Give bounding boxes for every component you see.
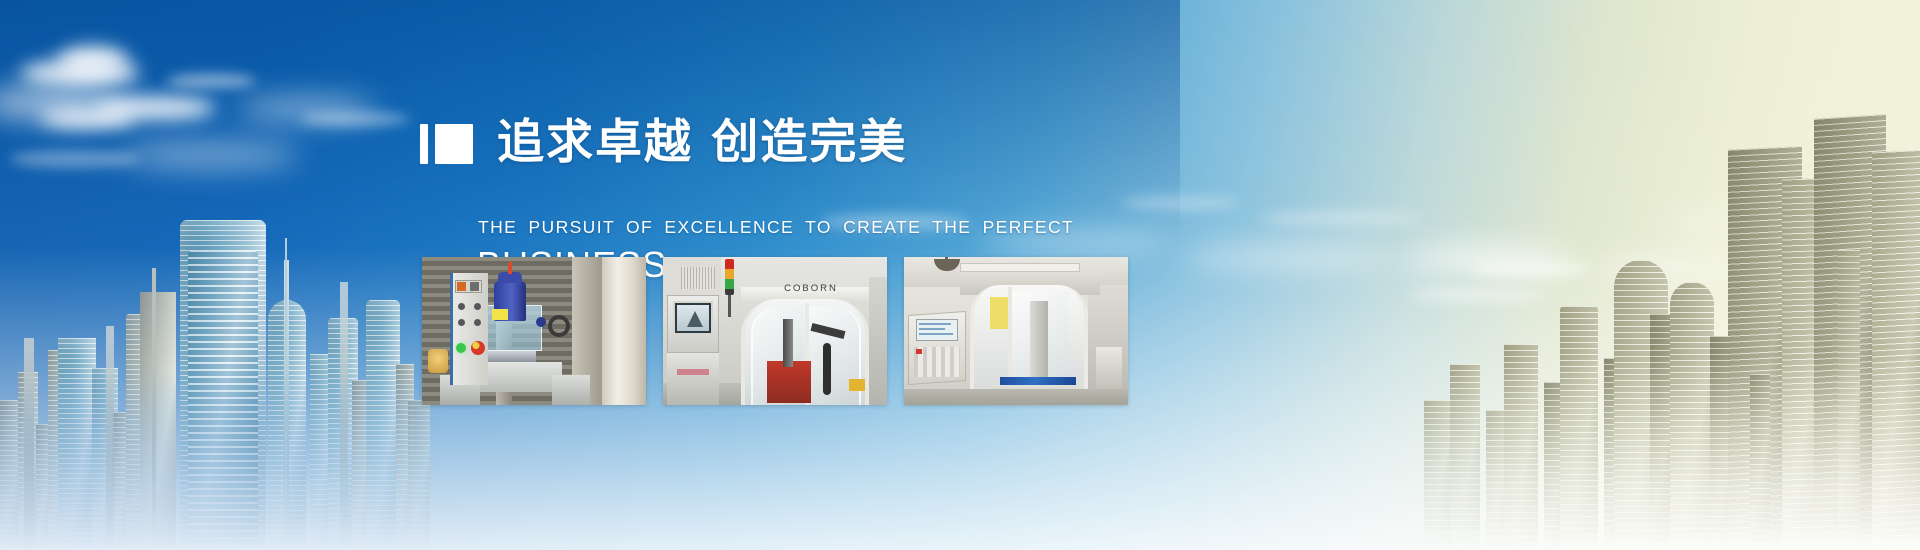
lifting-hook-icon — [508, 262, 512, 274]
photo-operator-panel-machine[interactable] — [904, 257, 1128, 405]
panel-indicator-grey-icon — [470, 282, 479, 291]
panel-knob-4-icon — [474, 319, 481, 326]
screen-line-2 — [919, 328, 945, 330]
logo-mark — [420, 124, 473, 164]
right-cabinet-panel — [869, 277, 887, 405]
power-on-light-icon — [456, 343, 466, 353]
headline-chinese: 追求卓越 创造完美 — [497, 119, 907, 166]
coolant-hose — [823, 343, 831, 395]
screen-line-1 — [919, 323, 951, 325]
work-lamp-glow-icon — [428, 349, 448, 373]
yellow-container-icon — [849, 379, 865, 391]
inner-column — [1030, 301, 1048, 387]
handwheel-right-icon — [536, 317, 546, 327]
machine-table — [484, 351, 536, 362]
headline-block: 追求卓越 创造完美 THE PURSUIT OF EXCELLENCE TO C… — [420, 88, 1120, 284]
screen-triangle-graphic-icon — [687, 311, 703, 327]
panel-knob-1-icon — [458, 303, 465, 310]
cabinet-label — [677, 369, 709, 375]
tagline-english: THE PURSUIT OF EXCELLENCE TO CREATE THE … — [478, 217, 1120, 238]
warning-label-icon — [492, 309, 508, 320]
hero-banner: 追求卓越 创造完美 THE PURSUIT OF EXCELLENCE TO C… — [0, 0, 1920, 550]
curtain — [602, 257, 646, 405]
photo-cnc-spindle-machine[interactable] — [422, 257, 646, 405]
side-equipment-box — [1096, 347, 1122, 389]
panel-knob-3-icon — [458, 319, 465, 326]
floor — [904, 389, 1128, 405]
logo-square-icon — [435, 124, 473, 164]
keypad-red-key-icon — [916, 349, 922, 354]
floor-cabinet — [667, 353, 719, 405]
photo-coborn-enclosure-machine[interactable]: COBORN — [663, 257, 887, 405]
panel-knob-2-icon — [474, 303, 481, 310]
coborn-brand-label: COBORN — [771, 283, 851, 294]
emergency-stop-icon — [471, 341, 485, 355]
machine-top-label-bar — [960, 263, 1080, 272]
screen-line-3 — [919, 333, 953, 335]
logo-bar-icon — [420, 124, 428, 164]
photo-strip: COBORN — [422, 257, 1128, 405]
grinding-spindle — [783, 319, 793, 367]
chip-tray-right — [552, 375, 590, 405]
panel-indicator-orange-icon — [457, 282, 466, 291]
hand-crank-icon — [548, 315, 570, 337]
vent-grille — [681, 267, 715, 289]
stack-light-stem — [728, 295, 731, 317]
red-workpiece-fixture — [767, 361, 811, 403]
stack-light-tower-icon — [725, 259, 734, 295]
